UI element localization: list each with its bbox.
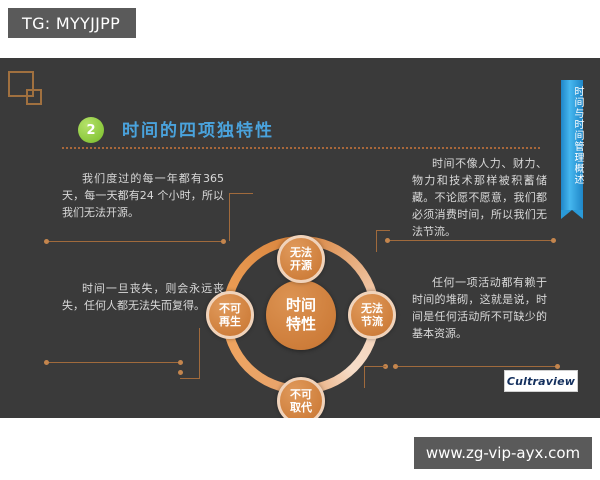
- center-node-line1: 时间: [286, 296, 316, 315]
- connector-stub-top-left: [229, 193, 253, 194]
- connector-line-bottom-left: [47, 362, 181, 363]
- connector-line-bottom-right: [395, 366, 557, 367]
- connector-dot-top-right-inner: [385, 238, 390, 243]
- node-right-line2: 节流: [361, 315, 383, 328]
- title-divider: [62, 147, 540, 149]
- paragraph-bottom-left: 时间一旦丧失，则会永远丧失，任何人都无法失而复得。: [62, 280, 224, 314]
- telegram-watermark-badge: TG: MYYJJPP: [8, 8, 136, 38]
- connector-dot-top-left-outer: [44, 239, 49, 244]
- connector-stub-bottom-left: [180, 378, 200, 379]
- section-number-badge: 2: [78, 117, 104, 143]
- connector-riser-bottom-left: [199, 328, 200, 378]
- paragraph-bottom-right: 任何一项活动都有赖于时间的堆砌，这就是说，时间是任何活动所不可缺少的基本资源。: [412, 274, 547, 342]
- connector-dot-bottom-left-inner: [178, 360, 183, 365]
- brand-logo: Cultraview: [504, 370, 578, 392]
- presentation-slide: 2 时间的四项独特性 时间与时间管理概述: [0, 58, 600, 418]
- connector-line-top-right: [388, 240, 553, 241]
- paragraph-top-left: 我们度过的每一年都有365天，每一天都有24 个小时，所以我们无法开源。: [62, 170, 224, 221]
- section-ribbon-label: 时间与时间管理概述: [561, 86, 583, 185]
- node-right-line1: 无法: [361, 302, 383, 315]
- connector-dot-bottom-left-low: [178, 370, 183, 375]
- node-bottom-line1: 不可: [290, 388, 312, 401]
- decorative-square-small: [26, 89, 42, 105]
- brand-logo-text: Cultraview: [507, 375, 575, 388]
- connector-dot-bottom-right-mid: [393, 364, 398, 369]
- connector-dot-top-right-outer: [551, 238, 556, 243]
- node-top-line1: 无法: [290, 246, 312, 259]
- node-left-line2: 再生: [219, 315, 241, 328]
- connector-dot-bottom-left-outer: [44, 360, 49, 365]
- node-top-line2: 开源: [290, 259, 312, 272]
- diagram-node-right[interactable]: 无法 节流: [348, 291, 396, 339]
- page-root: TG: MYYJJPP 2 时间的四项独特性 时间与时间管理概述: [0, 0, 600, 480]
- diagram-center-node[interactable]: 时间 特性: [266, 280, 336, 350]
- site-url-watermark: www.zg-vip-ayx.com: [414, 437, 592, 469]
- section-ribbon: 时间与时间管理概述: [561, 80, 583, 210]
- connector-riser-bottom-right: [364, 366, 365, 388]
- diagram-node-top[interactable]: 无法 开源: [277, 235, 325, 283]
- connector-stub-top-right: [376, 230, 390, 231]
- diagram-node-bottom[interactable]: 不可 取代: [277, 377, 325, 418]
- connector-dot-top-left-inner: [221, 239, 226, 244]
- connector-riser-top-right: [376, 230, 377, 252]
- connector-line-top-left: [47, 241, 224, 242]
- center-node-line2: 特性: [286, 315, 316, 334]
- connector-riser-top-left: [229, 193, 230, 241]
- connector-dot-bottom-right-outer: [555, 364, 560, 369]
- paragraph-top-right: 时间不像人力、财力、物力和技术那样被积蓄储藏。不论愿不愿意，我们都必须消费时间，…: [412, 155, 547, 240]
- page-title: 时间的四项独特性: [122, 116, 274, 141]
- node-bottom-line2: 取代: [290, 401, 312, 414]
- connector-stub-bottom-right: [364, 366, 386, 367]
